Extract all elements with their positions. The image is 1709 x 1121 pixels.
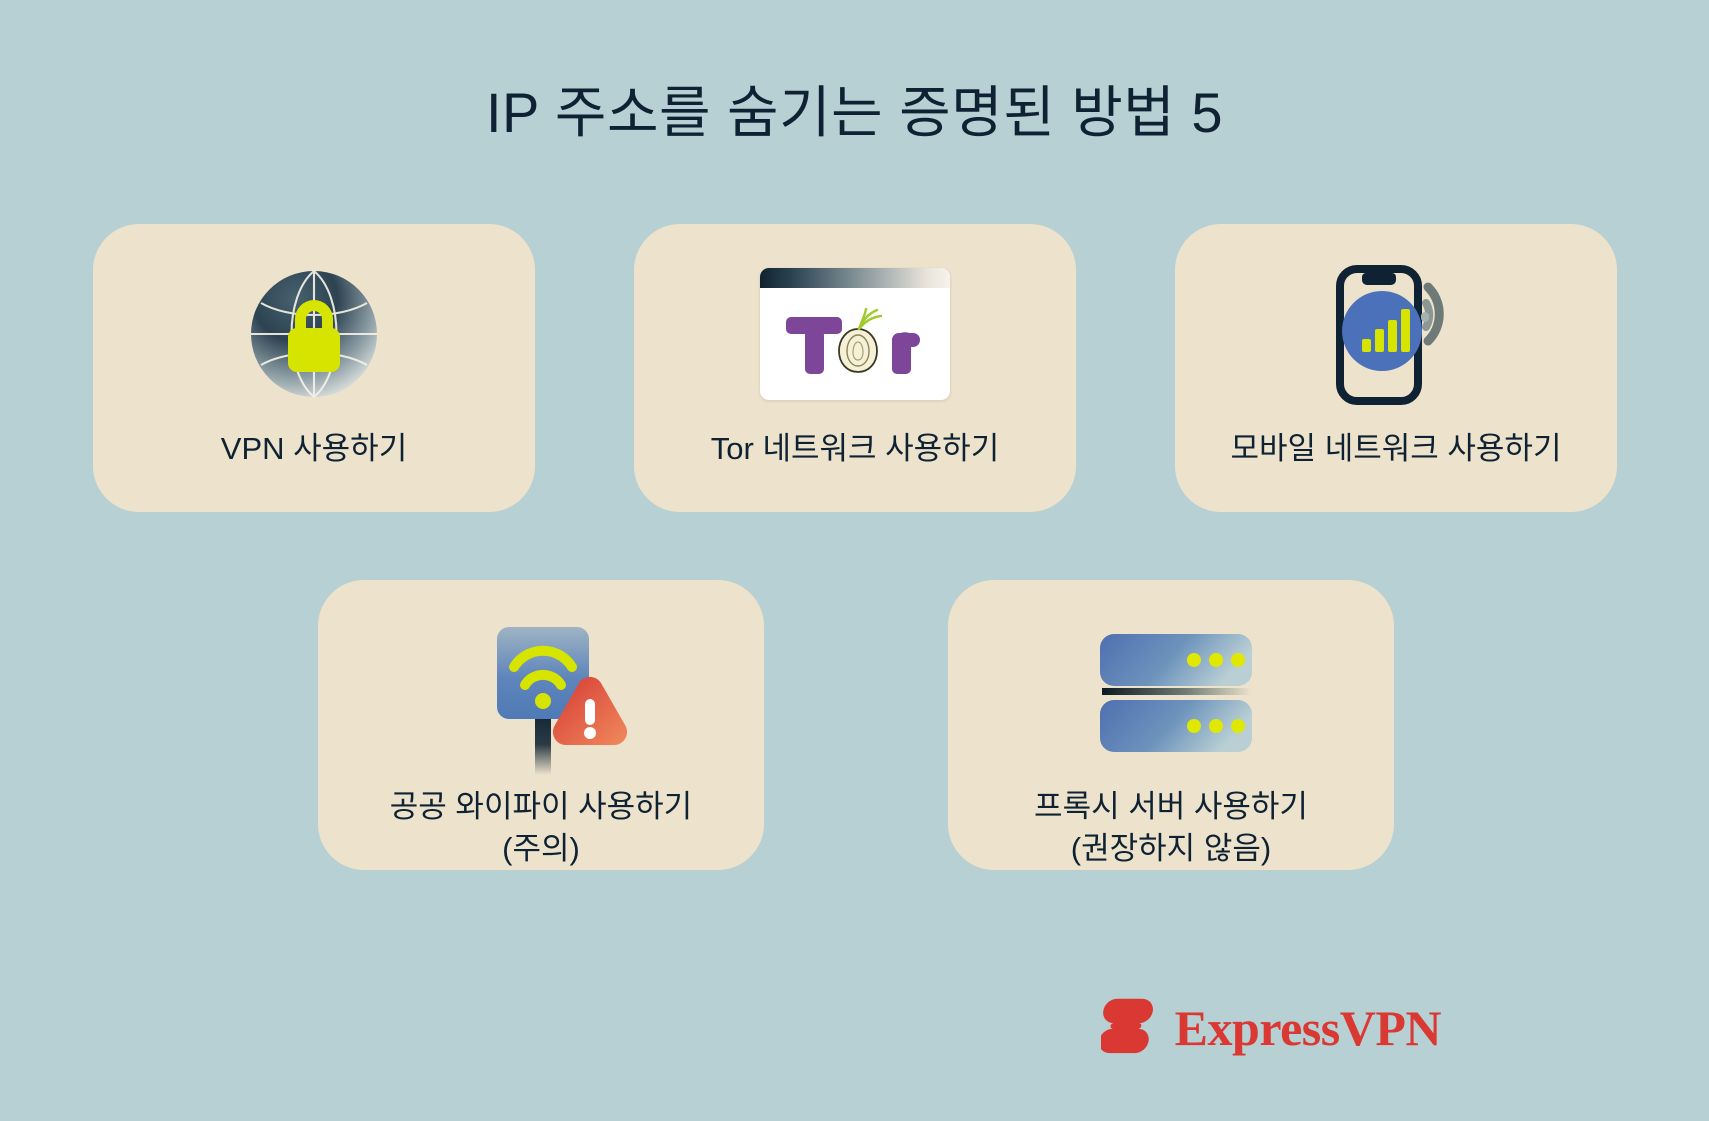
globe-lock-icon bbox=[93, 254, 535, 414]
card-mobile-network[interactable]: 모바일 네트워크 사용하기 bbox=[1175, 224, 1617, 512]
card-label: VPN 사용하기 bbox=[211, 428, 417, 470]
browser-titlebar bbox=[760, 268, 950, 288]
card-vpn[interactable]: VPN 사용하기 bbox=[93, 224, 535, 512]
card-label: Tor 네트워크 사용하기 bbox=[701, 428, 1009, 470]
card-public-wifi[interactable]: 공공 와이파이 사용하기 (주의) bbox=[318, 580, 764, 870]
infographic-root: IP 주소를 숨기는 증명된 방법 5 bbox=[0, 0, 1709, 1121]
page-title: IP 주소를 숨기는 증명된 방법 5 bbox=[0, 68, 1709, 149]
tor-logo-icon bbox=[780, 305, 930, 383]
card-row-top: VPN 사용하기 bbox=[93, 224, 1617, 512]
card-label: 프록시 서버 사용하기 (권장하지 않음) bbox=[1024, 786, 1318, 870]
mobile-signal-icon bbox=[1175, 254, 1617, 414]
tor-browser-icon bbox=[634, 254, 1076, 414]
card-label: 모바일 네트워크 사용하기 bbox=[1221, 428, 1572, 470]
card-label: 공공 와이파이 사용하기 (주의) bbox=[380, 786, 702, 870]
expressvpn-e-mark-icon bbox=[1101, 996, 1161, 1059]
public-wifi-warning-icon bbox=[318, 610, 764, 770]
card-row-bottom: 공공 와이파이 사용하기 (주의) bbox=[318, 580, 1394, 870]
expressvpn-logo[interactable]: ExpressVPN bbox=[1101, 996, 1441, 1059]
card-tor[interactable]: Tor 네트워크 사용하기 bbox=[634, 224, 1076, 512]
proxy-server-icon bbox=[948, 610, 1394, 770]
brand-name: ExpressVPN bbox=[1175, 1003, 1441, 1053]
card-proxy-server[interactable]: 프록시 서버 사용하기 (권장하지 않음) bbox=[948, 580, 1394, 870]
